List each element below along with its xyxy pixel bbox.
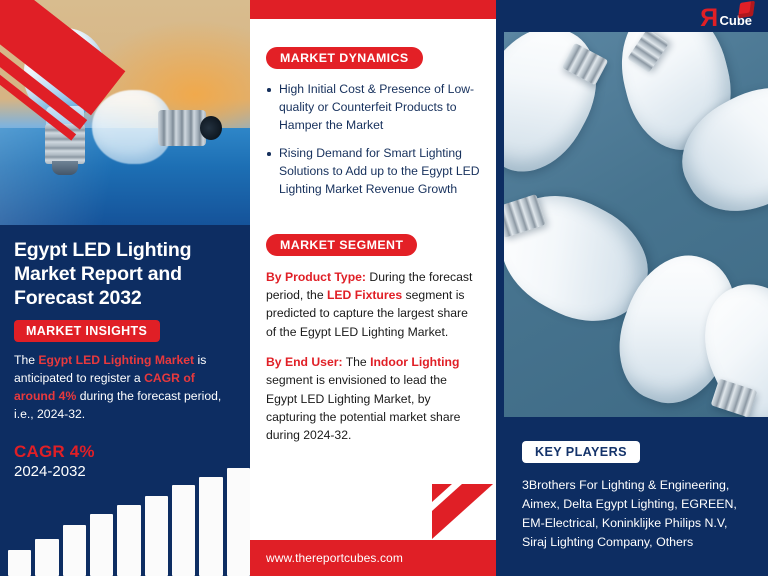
cagr-value: CAGR 4% [14, 442, 236, 462]
chart-bar [227, 468, 250, 576]
market-dynamics-item: High Initial Cost & Presence of Low-qual… [266, 81, 480, 134]
brand-logo[interactable]: R Cube [700, 4, 752, 30]
key-players-text: 3Brothers For Lighting & Engineering, Ai… [522, 476, 750, 551]
bulb-shape [504, 32, 619, 191]
right-panel: R Cube KEY PLAYERS 3Brothers For Lightin… [496, 0, 768, 576]
segment-lead-label: By End User: [266, 355, 343, 369]
bulb-screw-base [158, 110, 206, 146]
market-dynamics-item: Rising Demand for Smart Lighting Solutio… [266, 145, 480, 198]
market-segment-paragraph: By End User: The Indoor Lighting segment… [266, 353, 480, 444]
page-title: Egypt LED Lighting Market Report and For… [14, 239, 236, 310]
lying-bulb-illustration [92, 88, 227, 168]
key-players-section: KEY PLAYERS 3Brothers For Lighting & Eng… [504, 417, 768, 576]
market-dynamics-list: High Initial Cost & Presence of Low-qual… [266, 81, 480, 199]
insights-part-1: The [14, 353, 38, 367]
chart-bar [117, 505, 140, 576]
segment-lead-label: By Product Type: [266, 270, 366, 284]
segment-text: segment is envisioned to lead the Egypt … [266, 373, 460, 442]
key-players-badge: KEY PLAYERS [522, 441, 640, 463]
chart-bar [145, 496, 168, 576]
left-panel: Egypt LED Lighting Market Report and For… [0, 0, 250, 576]
website-url[interactable]: www.thereportcubes.com [250, 551, 403, 565]
chart-bar [172, 485, 195, 576]
middle-panel: MARKET DYNAMICS High Initial Cost & Pres… [250, 0, 496, 576]
reversed-r-icon: R [700, 7, 718, 30]
footer-bar: www.thereportcubes.com [250, 540, 496, 576]
market-segment-badge: MARKET SEGMENT [266, 234, 417, 256]
chart-bar [90, 514, 113, 576]
chart-bar [199, 477, 222, 576]
infographic-poster: Egypt LED Lighting Market Report and For… [0, 0, 768, 576]
growth-bar-chart [8, 468, 250, 576]
chart-bar [8, 550, 31, 576]
segment-highlight: Indoor Lighting [370, 355, 459, 369]
market-insights-text: The Egypt LED Lighting Market is anticip… [14, 351, 236, 423]
chart-bar [63, 525, 86, 576]
market-segment-paragraph: By Product Type: During the forecast per… [266, 268, 480, 341]
hero-bulbs-photo [0, 0, 250, 225]
bulb-contact-tip [200, 116, 222, 140]
market-segment-paragraphs: By Product Type: During the forecast per… [266, 268, 480, 445]
bulb-tip [52, 161, 78, 175]
market-insights-badge: MARKET INSIGHTS [14, 320, 160, 342]
market-dynamics-badge: MARKET DYNAMICS [266, 47, 423, 69]
middle-content: MARKET DYNAMICS High Initial Cost & Pres… [250, 19, 496, 540]
led-bulbs-flatlay-photo [504, 32, 768, 417]
insights-highlight-market: Egypt LED Lighting Market [38, 353, 194, 367]
segment-text: The [343, 355, 371, 369]
logo-header: R Cube [496, 0, 768, 32]
segment-highlight: LED Fixtures [327, 288, 402, 302]
red-cube-icon [738, 1, 755, 19]
middle-top-red-bar [250, 0, 496, 19]
chart-bar [35, 539, 58, 576]
